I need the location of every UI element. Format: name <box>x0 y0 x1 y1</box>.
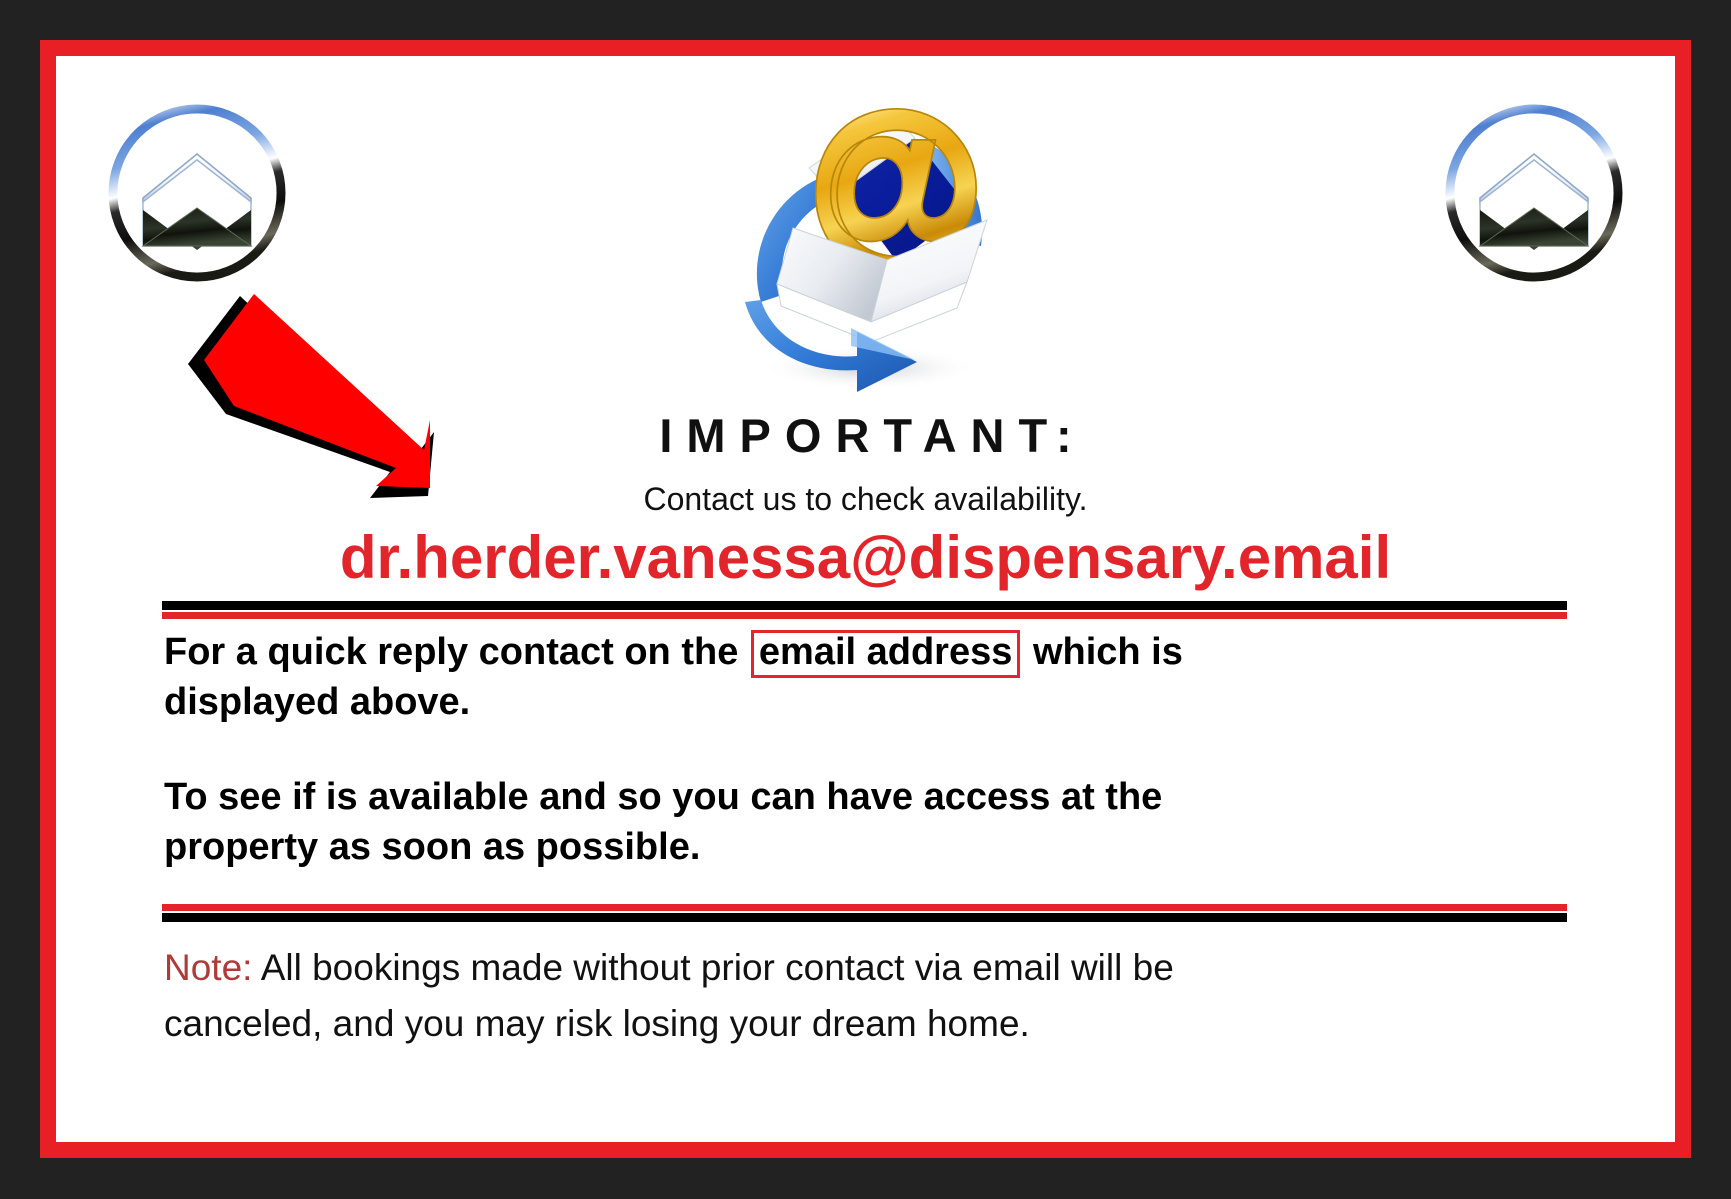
paragraph-spacer <box>164 727 1584 773</box>
note-line-1: Note: All bookings made without prior co… <box>164 940 1594 996</box>
body-text: For a quick reply contact on the email a… <box>164 628 1584 872</box>
at-symbol-envelope-icon <box>701 70 1031 400</box>
envelope-circle-icon-left <box>102 98 292 288</box>
divider-bar-red <box>162 904 1567 911</box>
notice-card: IMPORTANT: Contact us to check availabil… <box>56 56 1675 1142</box>
subtitle: Contact us to check availability. <box>56 481 1675 518</box>
note-label: Note: <box>164 947 252 988</box>
red-border-frame: IMPORTANT: Contact us to check availabil… <box>40 40 1691 1158</box>
divider-bar-black <box>162 601 1567 610</box>
envelope-circle-icon-right <box>1439 98 1629 288</box>
note-line-1-text: All bookings made without prior contact … <box>261 947 1174 988</box>
divider-bar-red <box>162 612 1567 619</box>
paragraph-1-line-1: For a quick reply contact on the email a… <box>164 628 1584 678</box>
note-line-2: canceled, and you may risk losing your d… <box>164 996 1594 1052</box>
paragraph-2-line-2: property as soon as possible. <box>164 823 1584 872</box>
red-down-right-arrow-icon <box>178 272 448 502</box>
paragraph-1-after: which is <box>1033 631 1183 673</box>
note-text: Note: All bookings made without prior co… <box>164 940 1594 1051</box>
divider-bottom <box>162 904 1567 920</box>
email-address[interactable]: dr.herder.vanessa@dispensary.email <box>56 523 1675 592</box>
page-background: IMPORTANT: Contact us to check availabil… <box>0 0 1731 1199</box>
paragraph-1-before: For a quick reply contact on the <box>164 631 738 673</box>
page-title: IMPORTANT: <box>56 408 1675 463</box>
paragraph-1-line-2: displayed above. <box>164 678 1584 727</box>
email-address-highlight: email address <box>751 630 1020 678</box>
divider-bar-black <box>162 913 1567 922</box>
paragraph-2-line-1: To see if is available and so you can ha… <box>164 773 1584 822</box>
divider-top <box>162 601 1567 617</box>
